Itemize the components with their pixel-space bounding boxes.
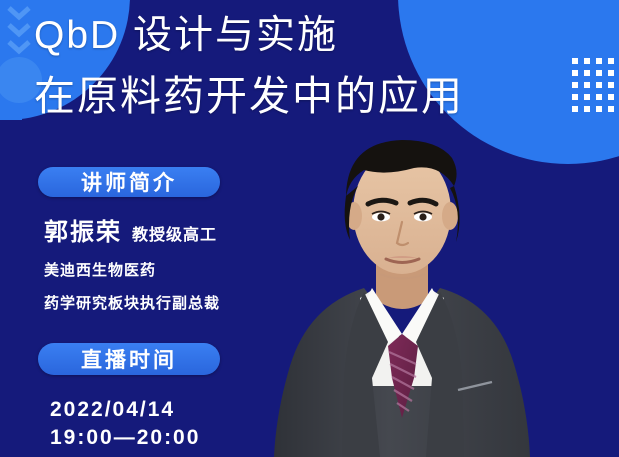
speaker-name-row: 郭振荣 教授级高工 [44,212,220,247]
headline-line-1: QbD 设计与实施 [34,8,574,64]
speaker-portrait [268,128,536,457]
speaker-organization: 美迪西生物医药 [44,259,220,280]
speaker-role: 药学研究板块执行副总裁 [44,292,220,313]
webinar-poster: QbD 设计与实施 在原料药开发中的应用 讲师简介 郭振荣 教授级高工 美迪西生… [0,0,619,457]
speaker-name: 郭振荣 [44,212,122,247]
decorative-dot-grid [572,58,619,118]
schedule-time-range: 19:00—20:00 [50,424,200,452]
schedule-info: 2022/04/14 19:00—20:00 [50,396,200,452]
chevron-down-icon [6,4,32,58]
speaker-info: 郭振荣 教授级高工 美迪西生物医药 药学研究板块执行副总裁 [44,212,220,313]
speaker-rank: 教授级高工 [132,221,217,245]
schedule-date: 2022/04/14 [50,396,200,424]
poster-headline: QbD 设计与实施 在原料药开发中的应用 [34,8,574,124]
badge-live-time: 直播时间 [38,343,220,375]
headline-line-2: 在原料药开发中的应用 [34,68,574,124]
badge-speaker-intro: 讲师简介 [38,167,220,197]
